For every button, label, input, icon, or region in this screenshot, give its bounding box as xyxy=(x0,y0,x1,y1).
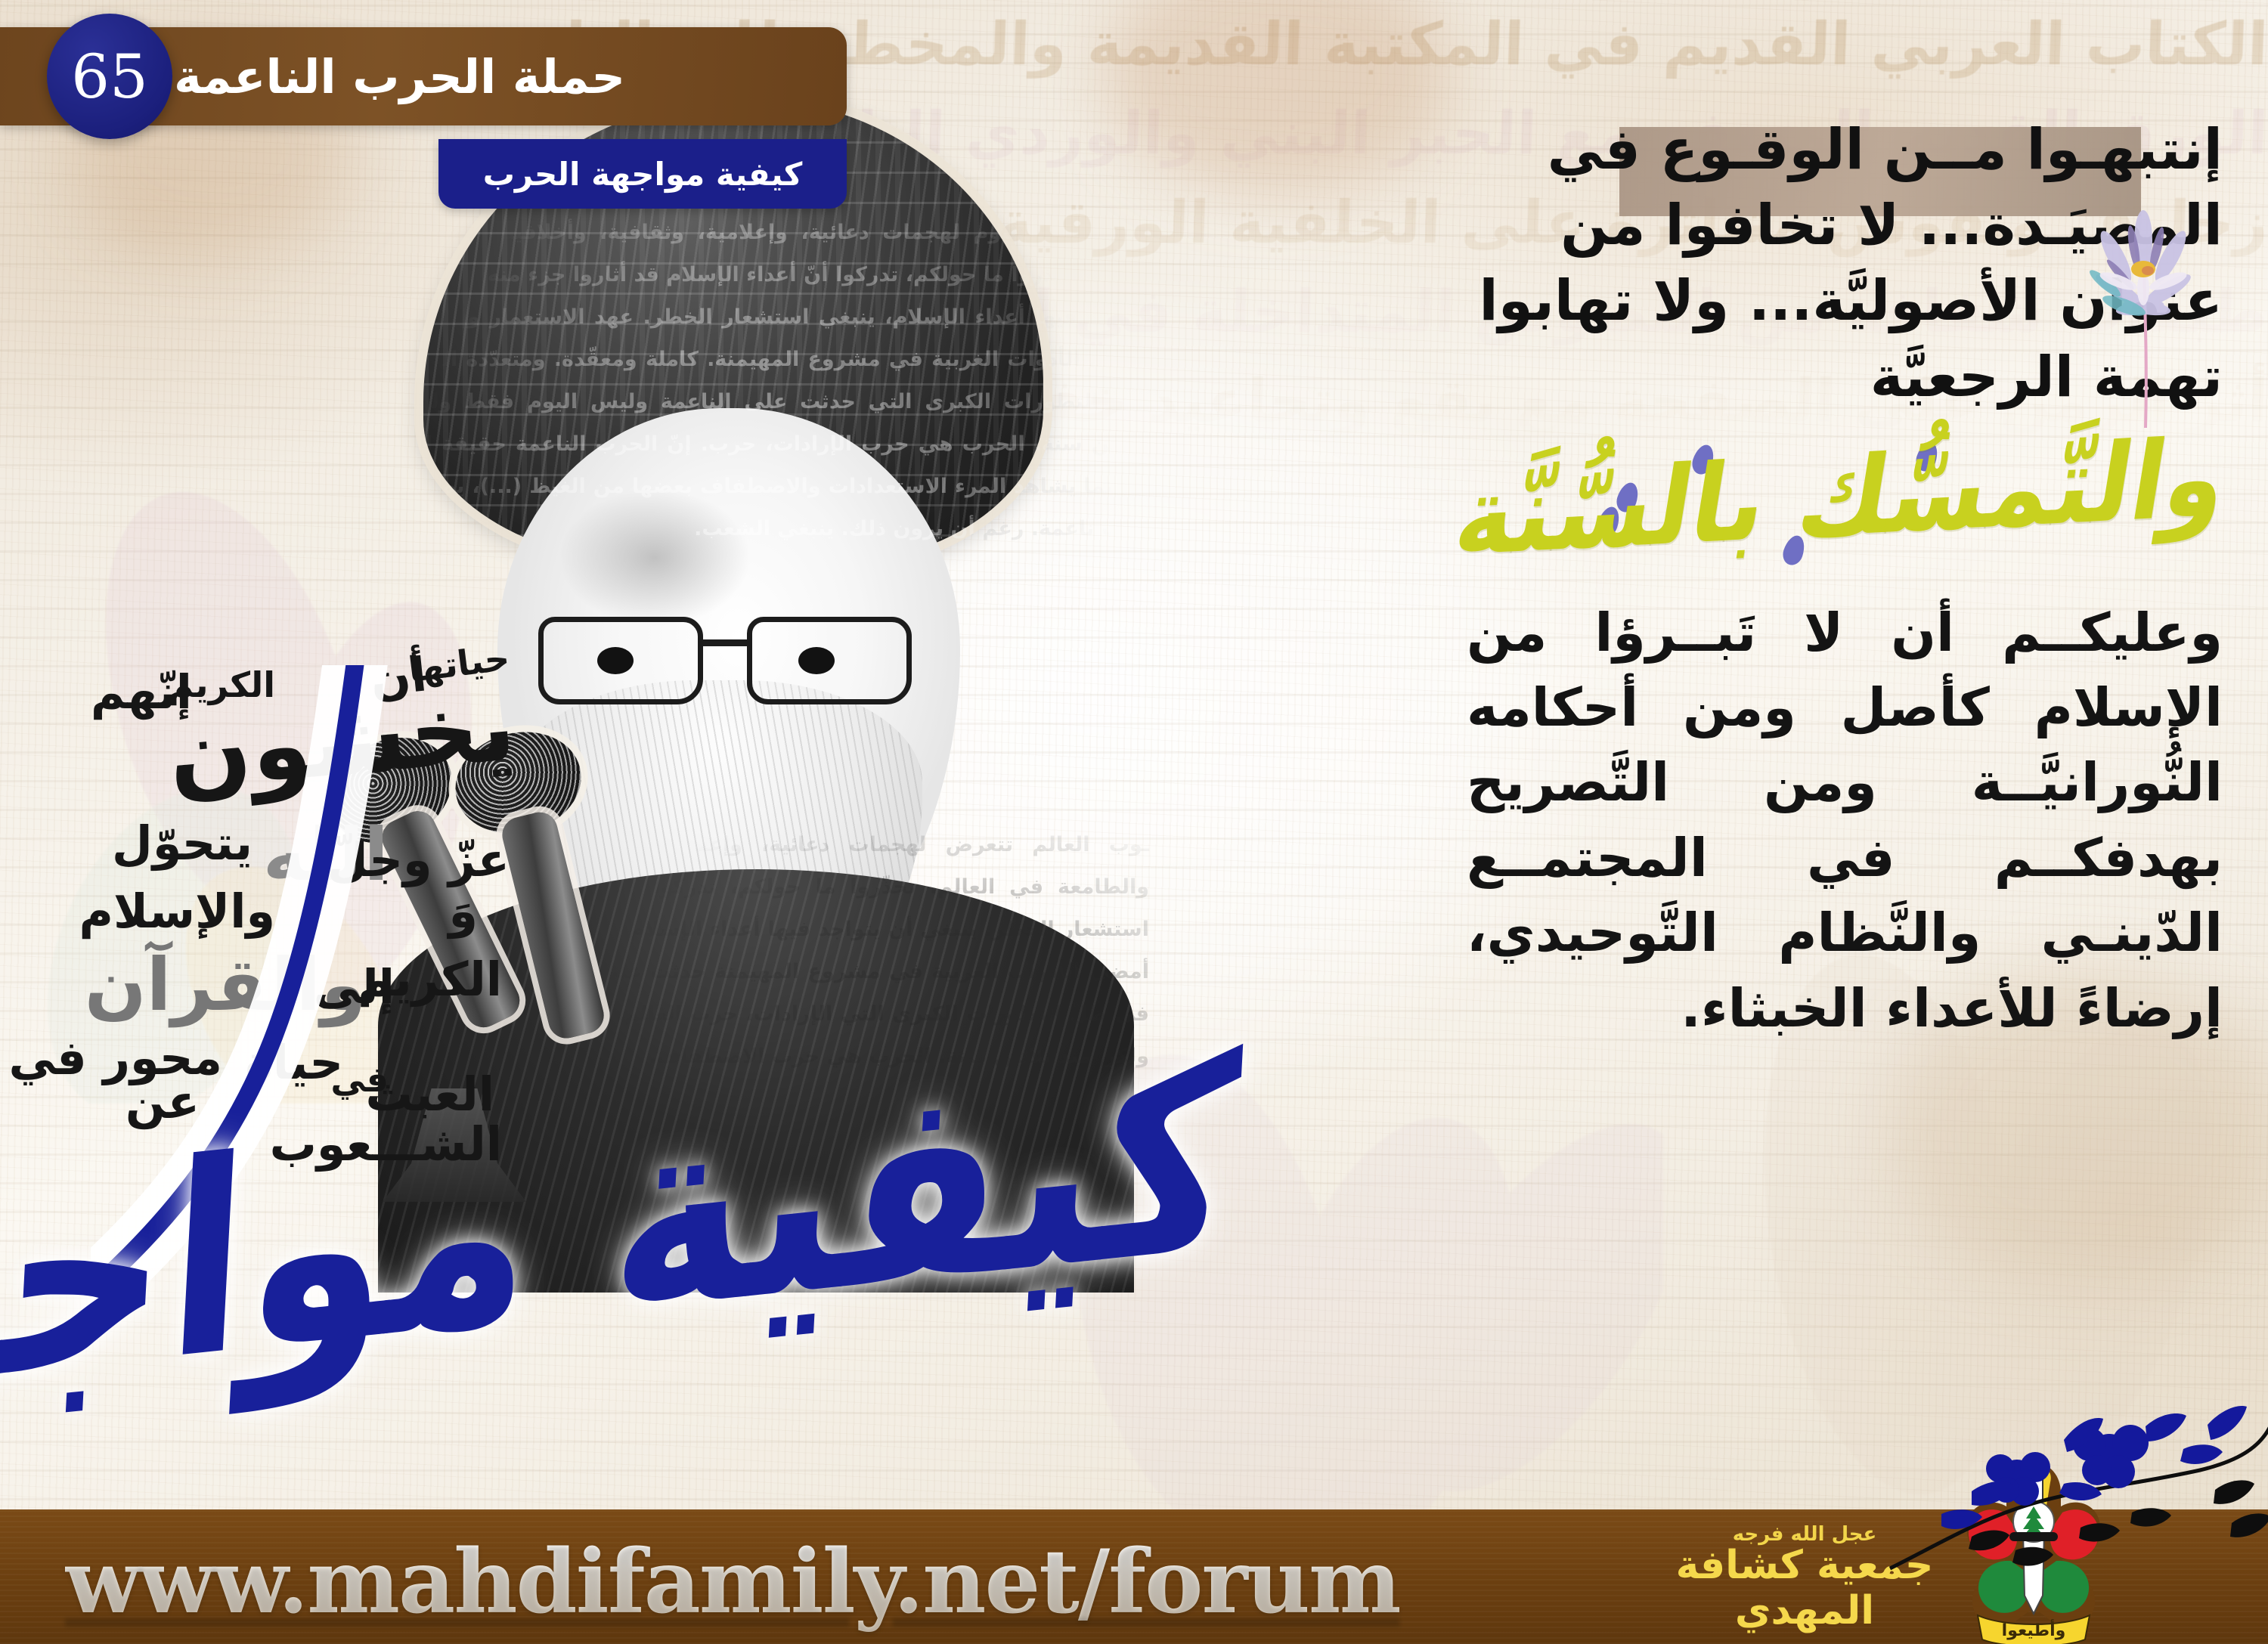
org-name: جمعية كشافة المهدي xyxy=(1642,1543,1967,1634)
quote-line-4: تهمة الرجعيَّة xyxy=(1467,339,2223,416)
campaign-title-bar: 65 حملة الحرب الناعمة xyxy=(0,27,847,125)
poster-canvas: ﺍﻟﻜﺘﺎﺏ ﺍﻟﻌﺮﺑﻲ ﺍﻟﻘﺪﻳﻢ ﻓﻲ ﺍﻟﻤﻜﺘﺒﺔ ﺍﻟﻘﺪﻳﻤﺔ … xyxy=(0,0,2268,1644)
green-calligraphy-text: والتَّمسُّك بالسُّنَّة xyxy=(1447,414,2236,580)
quote-line-1-tail: في xyxy=(1548,117,1641,182)
quote-line-1-highlighted: إنتبهـوا مــن الوقـوع xyxy=(1660,117,2223,182)
eyeglasses-icon xyxy=(534,612,927,711)
quote-line-1: إنتبهـوا مــن الوقـوع في xyxy=(1467,113,2223,187)
organization-block: عجل الله فرجه جمعية كشافة المهدي منتدى م… xyxy=(1642,1523,1967,1644)
word-al-abath: العبث xyxy=(366,1071,494,1118)
word-yatahawwal: يتحوّل xyxy=(112,820,253,867)
footer-bar: www.mahdifamily.net/forum عجل الله فرجه … xyxy=(0,1509,2268,1644)
campaign-title: حملة الحرب الناعمة xyxy=(174,49,625,104)
header-badge: 65 حملة الحرب الناعمة كيفية مواجهة الحرب xyxy=(0,27,847,209)
logo-banner-text: وأطيعوا xyxy=(2002,1618,2066,1640)
word-wal-islam: والإسلام xyxy=(79,888,275,935)
word-hayat: حياة xyxy=(245,1039,343,1086)
word-ash-shuub: الشـــعوب xyxy=(270,1121,502,1168)
header-subtitle: كيفية مواجهة الحرب xyxy=(438,139,847,209)
quote-column: إنتبهـوا مــن الوقـوع في المصيَـدة... لا… xyxy=(1467,113,2223,1046)
word-ila: إلى xyxy=(314,964,395,1011)
issue-number-badge: 65 xyxy=(47,14,172,139)
quote-body: المصيَـدة... لا تخافوا من عنوان الأصوليَ… xyxy=(1467,187,2223,416)
word-wa: وَ xyxy=(448,888,478,935)
quote-paragraph: وعليكــم أن لا تَبــرؤا من الإسلام كأصل … xyxy=(1467,596,2223,1046)
quote-line-2: المصيَـدة... لا تخافوا من xyxy=(1467,187,2223,264)
website-url[interactable]: www.mahdifamily.net/forum xyxy=(65,1531,1400,1633)
left-word-collage: حياتها أن إنّهم الكريم يخشون يتحوّل الله… xyxy=(0,639,525,1122)
word-yakhshawn: يخشون xyxy=(164,678,519,805)
org-forum-name: منتدى مهدي الكشفي xyxy=(1642,1637,1967,1644)
quote-line-3: عنوان الأصوليَّة... ولا تهابوا xyxy=(1467,263,2223,339)
word-an-2: عن xyxy=(125,1079,200,1125)
word-azza-wa-jall: عزّ وجلّ xyxy=(327,837,510,884)
green-calligraphy-block: والتَّمسُّك بالسُّنَّة xyxy=(1467,441,2223,570)
scout-fleur-de-lis-icon: وأطيعوا xyxy=(1958,1460,2109,1644)
